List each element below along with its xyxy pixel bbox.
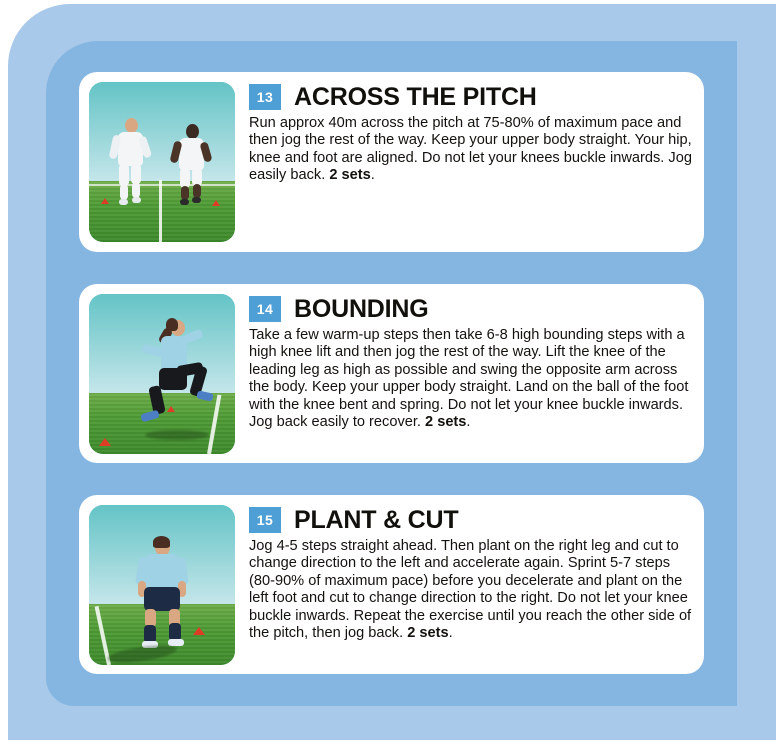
description-tail: .: [466, 414, 470, 430]
exercise-card[interactable]: 15 PLANT & CUT Jog 4-5 steps straight ah…: [79, 495, 704, 674]
exercise-header: 15 PLANT & CUT: [249, 505, 694, 535]
description-sets: 2 sets: [407, 625, 448, 641]
player-shadow: [145, 430, 209, 440]
exercise-content: 15 PLANT & CUT Jog 4-5 steps straight ah…: [235, 505, 694, 642]
exercise-photo-bounding: [89, 294, 235, 454]
description-lead: Run approx 40m across the pitch at 75-80…: [249, 115, 692, 183]
exercise-description: Take a few warm-up steps then take 6-8 h…: [249, 327, 694, 431]
photo-grass: [89, 181, 235, 242]
exercise-photo-across-the-pitch: [89, 82, 235, 242]
description-tail: .: [371, 167, 375, 183]
description-sets: 2 sets: [425, 414, 466, 430]
exercise-number-badge: 14: [249, 296, 281, 322]
exercise-title: ACROSS THE PITCH: [294, 83, 537, 112]
cone-icon: [101, 198, 109, 204]
exercise-description: Run approx 40m across the pitch at 75-80…: [249, 115, 694, 185]
exercise-card[interactable]: 13 ACROSS THE PITCH Run approx 40m acros…: [79, 72, 704, 252]
exercise-header: 13 ACROSS THE PITCH: [249, 82, 694, 112]
exercise-description: Jog 4-5 steps straight ahead. Then plant…: [249, 538, 694, 642]
pitch-line-horizontal: [89, 184, 235, 186]
exercise-number-badge: 15: [249, 507, 281, 533]
cone-icon: [167, 406, 175, 412]
description-lead: Jog 4-5 steps straight ahead. Then plant…: [249, 538, 691, 641]
exercise-number-badge: 13: [249, 84, 281, 110]
description-tail: .: [449, 625, 453, 641]
exercise-content: 13 ACROSS THE PITCH Run approx 40m acros…: [235, 82, 694, 185]
cone-icon: [99, 438, 111, 446]
exercise-photo-plant-and-cut: [89, 505, 235, 665]
page-root: 13 ACROSS THE PITCH Run approx 40m acros…: [0, 0, 783, 748]
exercise-title: PLANT & CUT: [294, 506, 458, 535]
cone-icon: [193, 627, 205, 635]
exercise-header: 14 BOUNDING: [249, 294, 694, 324]
exercise-title: BOUNDING: [294, 295, 429, 324]
photo-sky: [89, 82, 235, 181]
pitch-line-vertical: [159, 180, 162, 242]
description-sets: 2 sets: [329, 167, 370, 183]
exercise-card[interactable]: 14 BOUNDING Take a few warm-up steps the…: [79, 284, 704, 463]
exercise-card-list: 13 ACROSS THE PITCH Run approx 40m acros…: [79, 72, 704, 674]
cone-icon: [212, 200, 220, 206]
exercise-content: 14 BOUNDING Take a few warm-up steps the…: [235, 294, 694, 431]
